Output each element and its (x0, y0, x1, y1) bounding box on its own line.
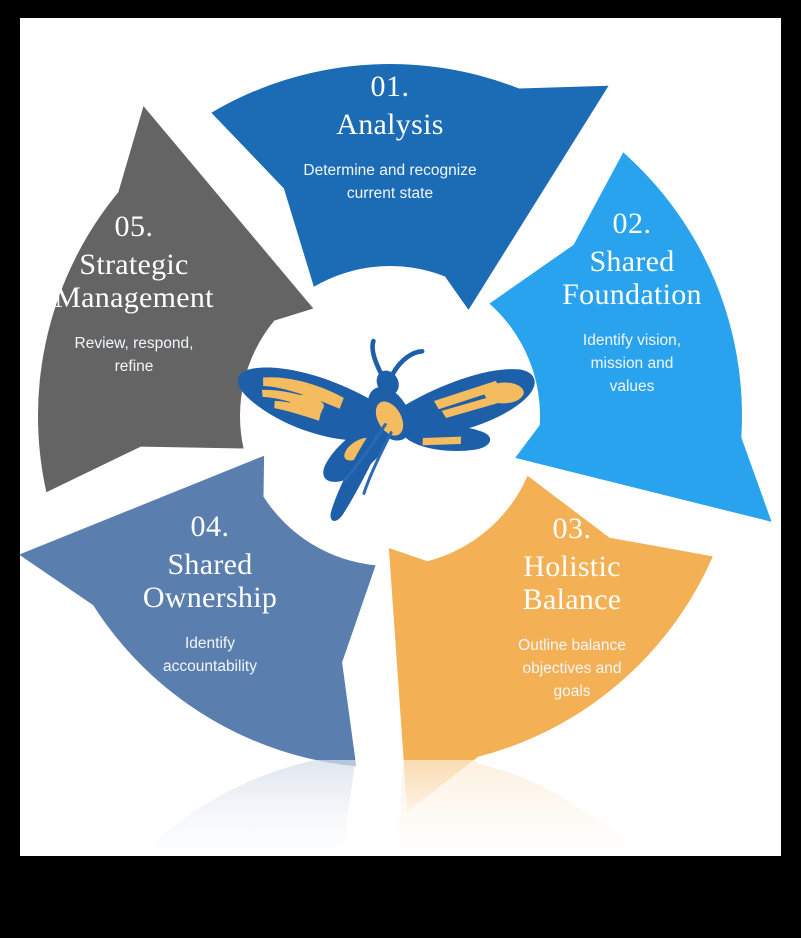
step-description-line: values (610, 378, 655, 395)
step-title-line: Management (54, 281, 214, 314)
step-description-line: Determine and recognize (303, 162, 476, 179)
step-description-line: accountability (163, 658, 257, 675)
step-description-line: objectives and (522, 660, 621, 677)
step-title-line: Shared (589, 245, 674, 278)
step-number: 01. (371, 70, 410, 103)
moth-illustration (235, 295, 556, 537)
step-description-line: Outline balance (518, 637, 626, 654)
step-description-line: goals (553, 683, 590, 700)
step-title-line: Shared (167, 548, 252, 581)
step-number: 05. (115, 210, 154, 243)
step-title-line: Analysis (336, 108, 443, 141)
step-description-line: refine (115, 358, 154, 375)
step-title-line: Ownership (143, 581, 277, 614)
step-number: 02. (613, 207, 652, 240)
step-description-line: Review, respond, (75, 335, 194, 352)
step-title-line: Holistic (523, 550, 620, 583)
step-title-line: Strategic (79, 248, 188, 281)
diagram-canvas: 01.AnalysisDetermine and recognizecurren… (20, 18, 781, 856)
step-title-line: Foundation (562, 278, 702, 311)
step-number: 03. (553, 512, 592, 545)
step-description-line: current state (347, 185, 433, 202)
reflection (20, 708, 781, 856)
step-description-line: Identify (185, 635, 235, 652)
image-frame: 01.AnalysisDetermine and recognizecurren… (0, 0, 801, 938)
step-description-line: mission and (591, 355, 674, 372)
step-number: 04. (191, 510, 230, 543)
step-description-line: Identify vision, (583, 332, 681, 349)
cycle-diagram-svg: 01.AnalysisDetermine and recognizecurren… (20, 18, 781, 856)
step-title-line: Balance (523, 583, 622, 616)
